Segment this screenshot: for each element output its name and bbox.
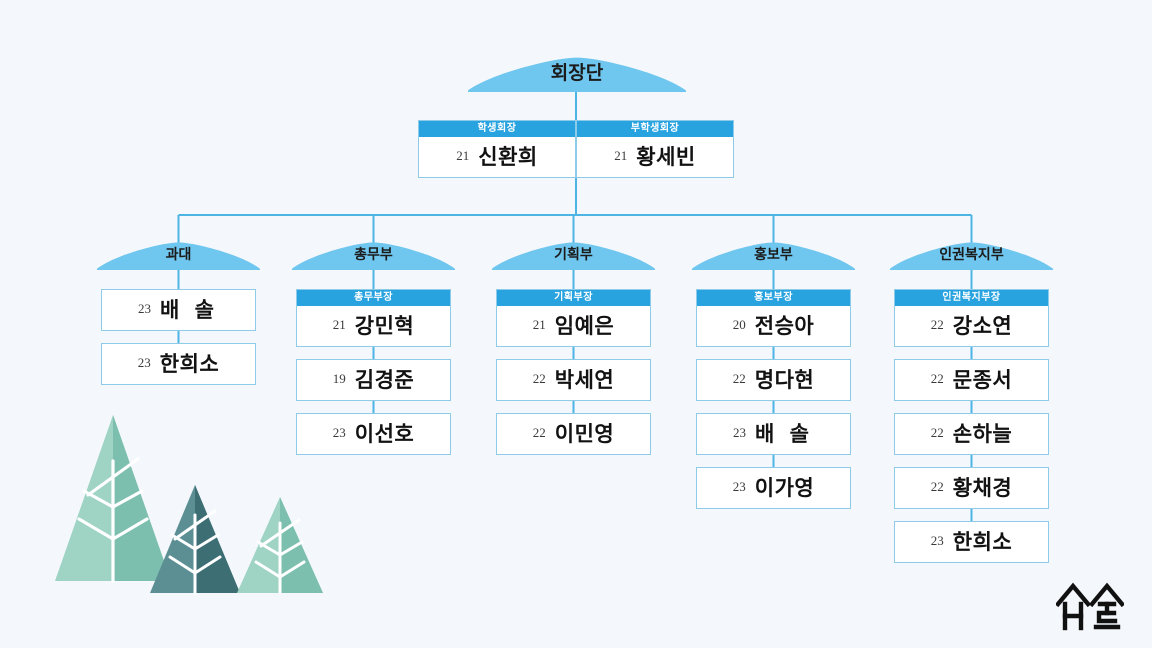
member-name: 한희소 (160, 348, 219, 378)
member-card[interactable]: 22명다현 (696, 359, 851, 401)
member-name: 이가영 (755, 472, 814, 502)
member-year: 22 (533, 371, 546, 387)
member-card[interactable]: 22손하늘 (894, 413, 1049, 455)
member-card[interactable]: 19김경준 (296, 359, 451, 401)
department-banner[interactable]: 기획부 (492, 238, 655, 270)
member-year: 21 (456, 148, 469, 164)
member-card[interactable]: 총무부장21강민혁 (296, 289, 451, 347)
member-card[interactable]: 22문종서 (894, 359, 1049, 401)
member-card[interactable]: 23한희소 (894, 521, 1049, 563)
org-chart: 회장단학생회장21신환희부학생회장21황세빈과대23배 솔23한희소총무부총무부… (0, 0, 1152, 648)
member-name: 한희소 (953, 526, 1012, 556)
member-year: 22 (931, 317, 944, 333)
member-card[interactable]: 23이선호 (296, 413, 451, 455)
member-year: 21 (533, 317, 546, 333)
banner-label: 홍보부 (754, 244, 793, 264)
member-card[interactable]: 23배 솔 (101, 289, 256, 331)
member-name: 문종서 (953, 364, 1012, 394)
member-name: 강민혁 (355, 310, 414, 340)
member-card[interactable]: 인권복지부장22강소연 (894, 289, 1049, 347)
member-card[interactable]: 홍보부장20전승아 (696, 289, 851, 347)
member-name: 전승아 (755, 310, 814, 340)
member-name: 이선호 (355, 418, 414, 448)
member-role: 총무부장 (297, 290, 450, 306)
member-name: 배 솔 (160, 294, 219, 324)
member-name: 손하늘 (953, 418, 1012, 448)
department-banner[interactable]: 총무부 (292, 238, 455, 270)
member-year: 22 (533, 425, 546, 441)
member-year: 21 (614, 148, 627, 164)
banner-label: 회장단 (551, 58, 603, 85)
member-year: 22 (931, 479, 944, 495)
member-card[interactable]: 23한희소 (101, 343, 256, 385)
department-banner[interactable]: 홍보부 (692, 238, 855, 270)
member-card[interactable]: 23이가영 (696, 467, 851, 509)
member-year: 23 (138, 355, 151, 371)
member-year: 23 (733, 425, 746, 441)
member-year: 23 (138, 301, 151, 317)
member-name: 임예은 (555, 310, 614, 340)
member-card[interactable]: 학생회장21신환희 (418, 120, 576, 178)
member-name: 황세빈 (636, 141, 695, 171)
member-name: 강소연 (953, 310, 1012, 340)
member-card[interactable]: 22박세연 (496, 359, 651, 401)
member-name: 황채경 (953, 472, 1012, 502)
department-banner[interactable]: 과대 (97, 238, 260, 270)
member-name: 김경준 (355, 364, 414, 394)
member-year: 22 (733, 371, 746, 387)
pine-trees-icon (55, 415, 325, 595)
banner-label: 기획부 (554, 244, 593, 264)
member-year: 21 (333, 317, 346, 333)
banner-label: 인권복지부 (939, 244, 1003, 264)
department-banner[interactable]: 인권복지부 (890, 238, 1053, 270)
member-year: 23 (333, 425, 346, 441)
member-role: 기획부장 (497, 290, 650, 306)
member-card[interactable]: 기획부장21임예은 (496, 289, 651, 347)
member-year: 23 (733, 479, 746, 495)
banner-label: 과대 (166, 244, 192, 264)
member-name: 박세연 (555, 364, 614, 394)
hansol-house-logo-icon (1056, 580, 1124, 632)
member-year: 23 (931, 533, 944, 549)
member-card[interactable]: 22이민영 (496, 413, 651, 455)
member-name: 명다현 (755, 364, 814, 394)
member-role: 부학생회장 (577, 121, 733, 137)
member-year: 20 (733, 317, 746, 333)
member-year: 19 (333, 371, 346, 387)
member-year: 22 (931, 425, 944, 441)
member-name: 배 솔 (755, 418, 814, 448)
member-role: 홍보부장 (697, 290, 850, 306)
member-card[interactable]: 23배 솔 (696, 413, 851, 455)
member-card[interactable]: 22황채경 (894, 467, 1049, 509)
root-banner[interactable]: 회장단 (468, 52, 686, 92)
member-role: 인권복지부장 (895, 290, 1048, 306)
member-role: 학생회장 (419, 121, 575, 137)
member-year: 22 (931, 371, 944, 387)
banner-label: 총무부 (354, 244, 393, 264)
member-card[interactable]: 부학생회장21황세빈 (576, 120, 734, 178)
member-name: 신환희 (478, 141, 537, 171)
member-name: 이민영 (555, 418, 614, 448)
